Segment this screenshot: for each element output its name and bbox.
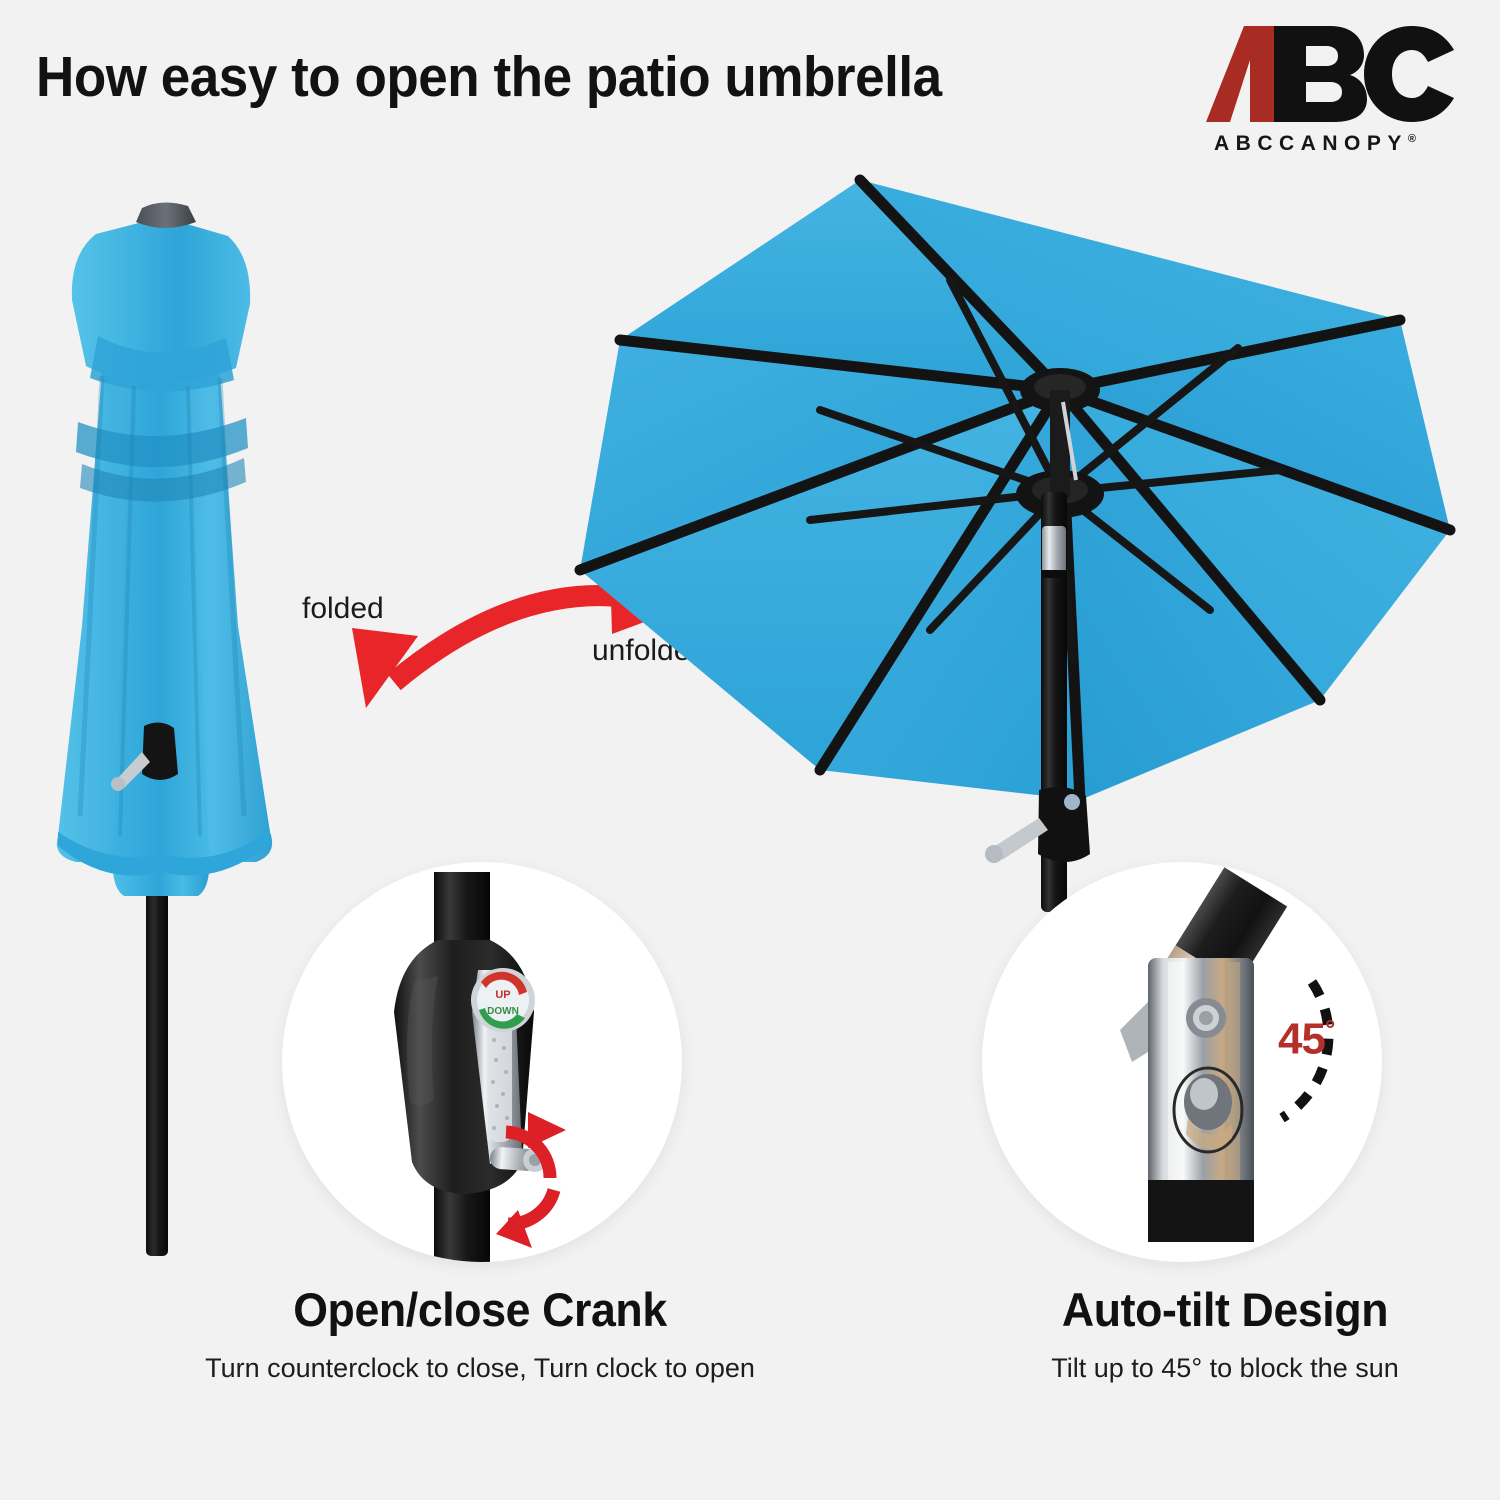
tilt-caption-title: Auto-tilt Design bbox=[964, 1282, 1487, 1337]
tilt-lower-collar bbox=[1148, 1180, 1254, 1242]
tilt-side-tab bbox=[1120, 1002, 1148, 1062]
tilt-joint-body bbox=[1148, 958, 1254, 1190]
crank-dial: UP DOWN bbox=[471, 968, 535, 1032]
tilt-angle-symbol: ° bbox=[1325, 1014, 1334, 1044]
open-crank-housing bbox=[985, 787, 1090, 863]
tilt-caption: Auto-tilt Design Tilt up to 45° to block… bbox=[950, 1282, 1500, 1384]
crank-caption-title: Open/close Crank bbox=[24, 1282, 936, 1337]
tilt-bolt bbox=[1186, 998, 1226, 1038]
crank-illustration: UP DOWN bbox=[282, 862, 682, 1262]
detail-crank: UP DOWN bbox=[282, 862, 682, 1262]
tilt-angle-value: 45 bbox=[1278, 1015, 1325, 1064]
crank-caption: Open/close Crank Turn counterclock to cl… bbox=[0, 1282, 960, 1384]
logo-mark: ABCCANOPY® bbox=[1206, 28, 1456, 128]
label-folded: folded bbox=[302, 592, 384, 626]
crank-circle-frame: UP DOWN bbox=[282, 862, 682, 1262]
dial-up-label: UP bbox=[495, 989, 510, 1001]
infographic-canvas: How easy to open the patio umbrella ABCC… bbox=[0, 0, 1500, 1500]
page-title: How easy to open the patio umbrella bbox=[36, 44, 942, 110]
tilt-caption-subtitle: Tilt up to 45° to block the sun bbox=[950, 1353, 1500, 1384]
abc-logo-icon bbox=[1206, 22, 1456, 128]
crank-caption-subtitle: Turn counterclock to close, Turn clock t… bbox=[0, 1353, 960, 1384]
dial-down-label: DOWN bbox=[487, 1006, 519, 1017]
tilt-circle-frame: 45° bbox=[982, 862, 1382, 1262]
detail-auto-tilt: 45° bbox=[982, 862, 1382, 1262]
rotation-arrowhead-top bbox=[528, 1112, 566, 1148]
crank-pole-upper bbox=[434, 872, 490, 942]
open-umbrella-image bbox=[520, 140, 1500, 940]
folded-top-cap bbox=[136, 202, 196, 228]
tilt-joint bbox=[1042, 526, 1066, 578]
canopy-panels bbox=[580, 180, 1450, 800]
tilt-angle-label: 45° bbox=[1278, 1014, 1334, 1065]
